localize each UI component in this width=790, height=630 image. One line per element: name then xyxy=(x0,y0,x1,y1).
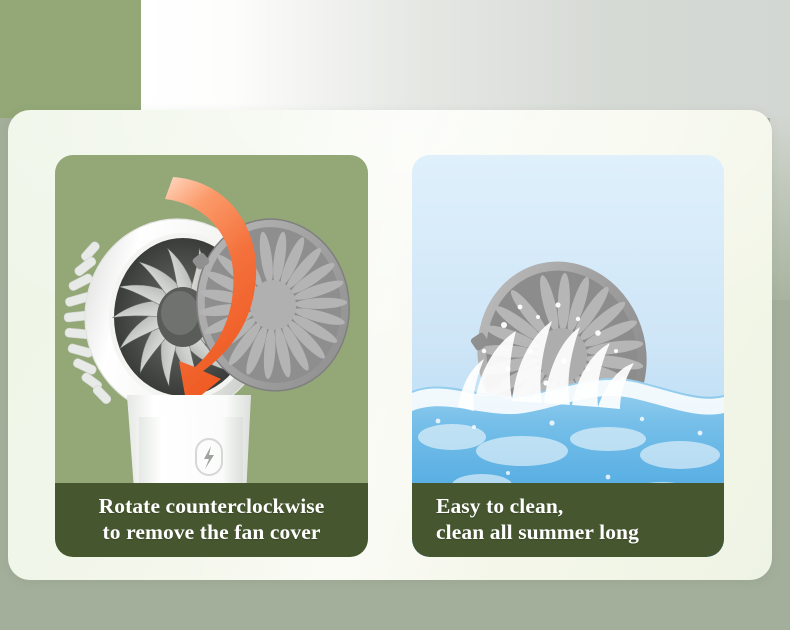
feature-card: Rotate counterclockwise to remove the fa… xyxy=(8,110,772,580)
caption-remove-cover: Rotate counterclockwise to remove the fa… xyxy=(55,483,368,557)
caption-line-1: Easy to clean, xyxy=(436,494,563,518)
screenshot-stage: Rotate counterclockwise to remove the fa… xyxy=(0,0,790,630)
caption-easy-clean: Easy to clean, clean all summer long xyxy=(412,483,724,557)
background-green-block xyxy=(0,0,141,118)
background-right-strip xyxy=(770,0,790,300)
background-top-white-panel xyxy=(140,0,790,118)
caption-line-2: to remove the fan cover xyxy=(55,520,368,545)
panel-remove-cover[interactable]: Rotate counterclockwise to remove the fa… xyxy=(55,155,368,557)
caption-line-2: clean all summer long xyxy=(436,520,724,545)
panel-easy-clean[interactable]: Easy to clean, clean all summer long xyxy=(412,155,724,557)
caption-line-1: Rotate counterclockwise xyxy=(99,494,325,518)
